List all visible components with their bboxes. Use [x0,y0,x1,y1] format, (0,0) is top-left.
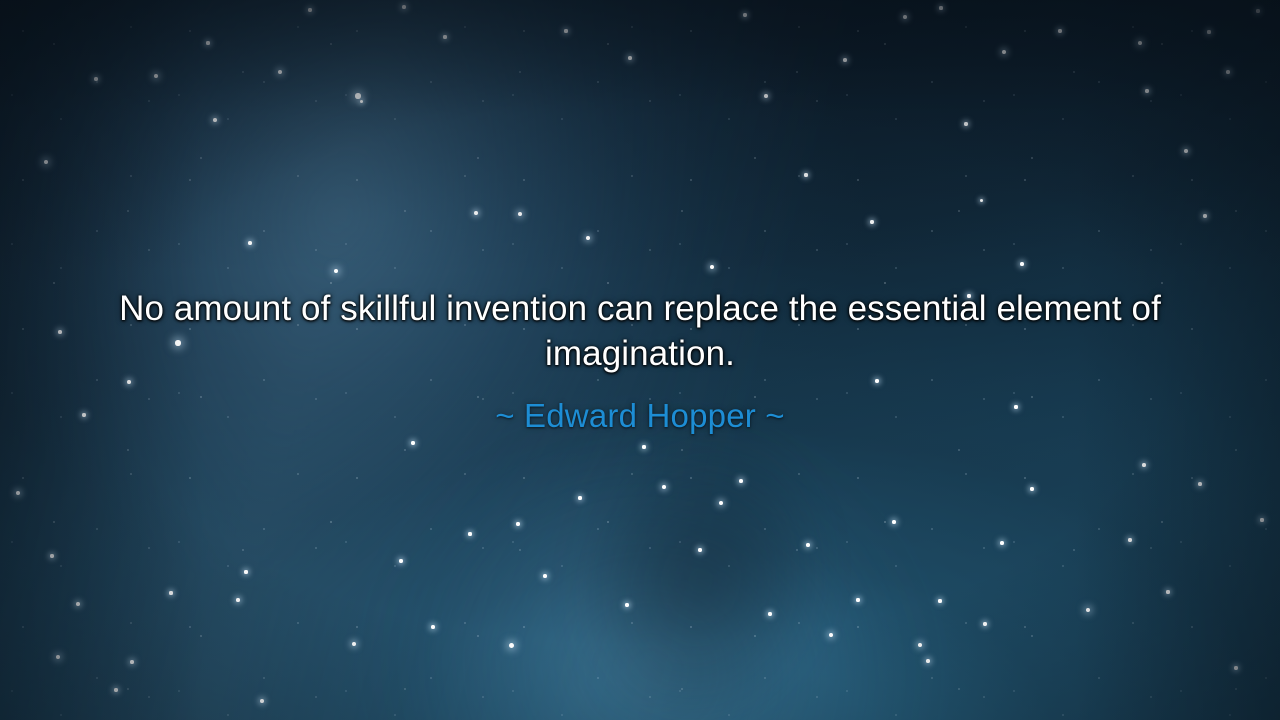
quote-card: No amount of skillful invention can repl… [0,0,1280,720]
quote-block: No amount of skillful invention can repl… [0,286,1280,435]
quote-author: ~ Edward Hopper ~ [90,397,1190,435]
quote-text: No amount of skillful invention can repl… [90,286,1190,376]
